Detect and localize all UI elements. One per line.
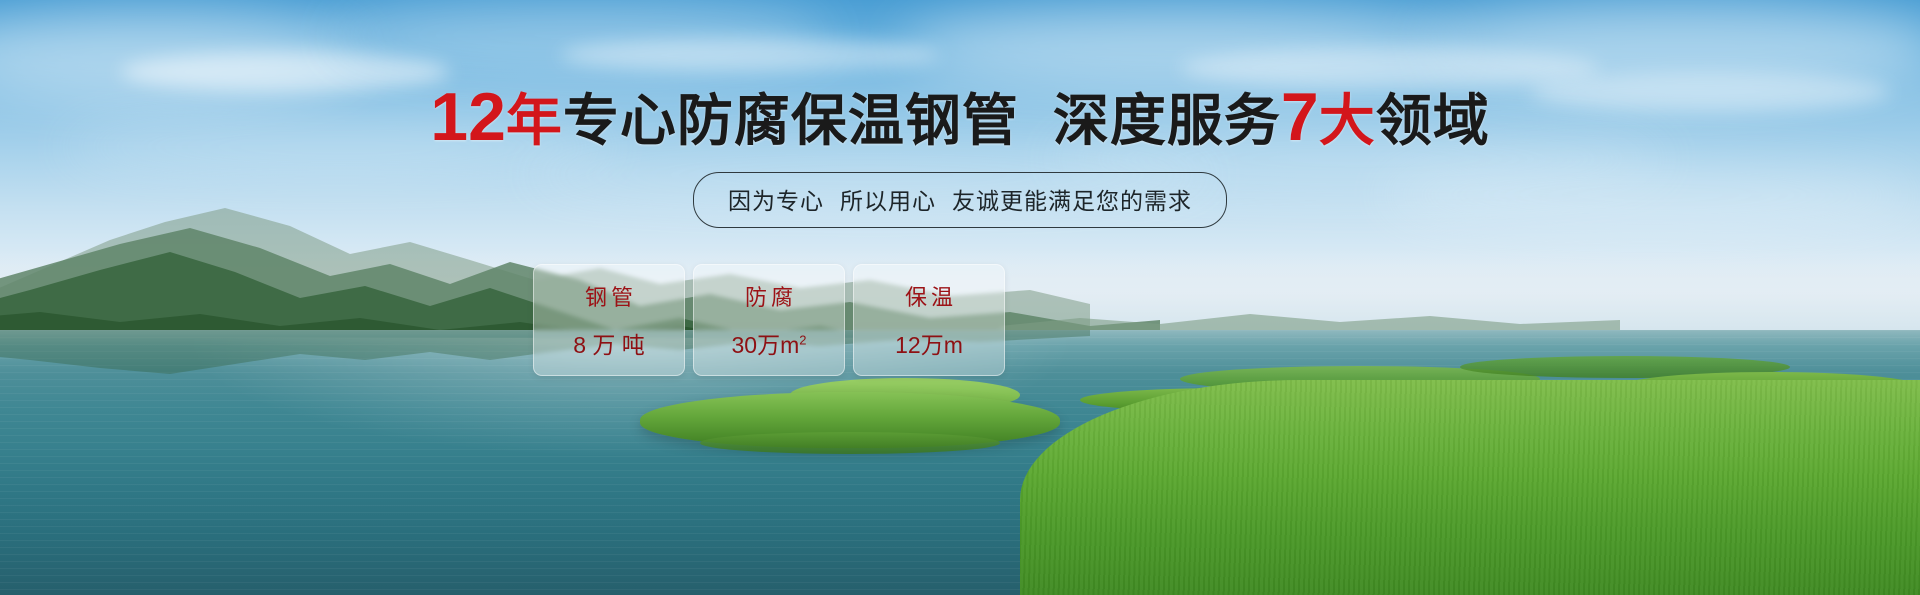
headline-fields-number: 7	[1281, 79, 1319, 155]
headline-years-number: 12	[430, 79, 506, 155]
headline-main-text-1: 专心防腐保温钢管	[563, 89, 1019, 152]
subtitle-part-2: 所以用心	[840, 188, 936, 214]
cloud	[1380, 160, 1920, 230]
subtitle-part-1: 因为专心	[728, 188, 824, 214]
stat-card-title: 保温	[901, 280, 957, 312]
grass-foreground	[1020, 380, 1920, 595]
headline-main-text-2: 领域	[1376, 89, 1490, 152]
cloud	[560, 38, 940, 72]
stat-card-title: 钢管	[581, 280, 637, 312]
stat-card-value-sup: 2	[799, 332, 806, 347]
stat-card-value: 8 万 吨	[573, 326, 645, 360]
stat-card-value: 12万m	[895, 326, 963, 360]
headline-fields-unit: 大	[1319, 89, 1376, 152]
stat-card-anticorrosion: 防腐 30万m2	[693, 264, 845, 376]
stat-card-list: 钢管 8 万 吨 防腐 30万m2 保温 12万m	[533, 264, 1005, 376]
subtitle-pill: 因为专心所以用心友诚更能满足您的需求	[693, 172, 1227, 228]
stat-card-insulation: 保温 12万m	[853, 264, 1005, 376]
stat-card-value: 30万m2	[732, 326, 807, 360]
headline-years-unit: 年	[506, 89, 563, 152]
stat-card-title: 防腐	[741, 280, 797, 312]
stat-card-steel-pipe: 钢管 8 万 吨	[533, 264, 685, 376]
hero-banner: 12年专心防腐保温钢管深度服务7大领域 因为专心所以用心友诚更能满足您的需求 钢…	[0, 0, 1920, 595]
page-title: 12年专心防腐保温钢管深度服务7大领域	[0, 83, 1920, 151]
headline-service-text: 深度服务	[1053, 89, 1281, 152]
subtitle-part-3: 友诚更能满足您的需求	[952, 188, 1192, 214]
island-front	[700, 432, 1000, 454]
